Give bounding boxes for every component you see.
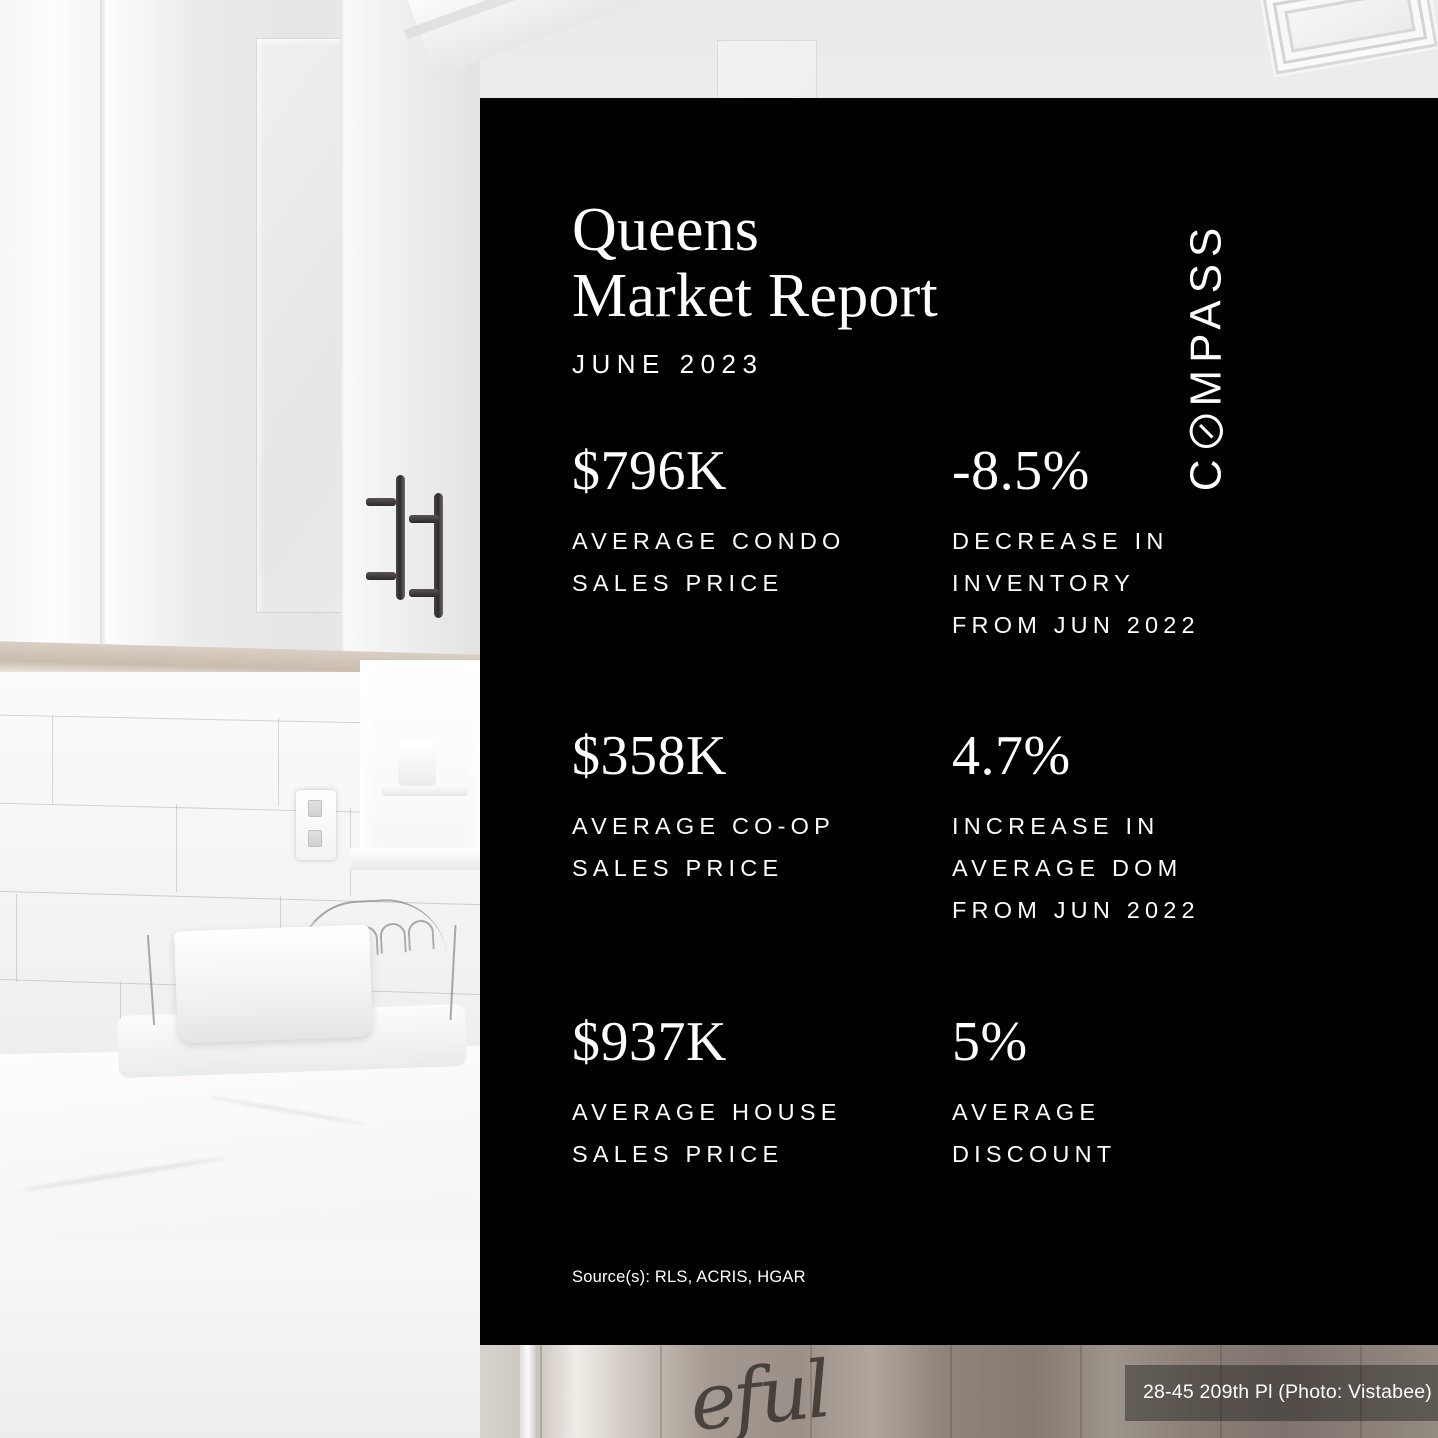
lower-cabinets [0, 1240, 480, 1438]
cabinet-pull-foot [409, 515, 439, 523]
stat-label: AVERAGE HOUSE SALES PRICE [572, 1092, 952, 1176]
cabinet-pull-foot [409, 589, 439, 597]
cabinet-pull-foot [366, 498, 396, 506]
stats-row: $358K AVERAGE CO-OP SALES PRICE 4.7% INC… [572, 728, 1332, 931]
stat-label-line: INCREASE IN [952, 806, 1332, 848]
stat-label-line: FROM JUN 2022 [952, 890, 1332, 932]
stat-value: 4.7% [952, 728, 1332, 784]
cabinet-pull-foot [366, 572, 396, 580]
plate [382, 786, 468, 796]
stat-label: AVERAGE DISCOUNT [952, 1092, 1332, 1176]
report-panel: Queens Market Report JUNE 2023 C MPASS [480, 98, 1438, 1345]
stat-increase-in-average-dom: 4.7% INCREASE IN AVERAGE DOM FROM JUN 20… [952, 728, 1332, 931]
stat-value: 5% [952, 1014, 1332, 1070]
stat-average-discount: 5% AVERAGE DISCOUNT [952, 1014, 1332, 1176]
stat-label: DECREASE IN INVENTORY FROM JUN 2022 [952, 521, 1332, 646]
stat-label-line: AVERAGE DOM [952, 848, 1332, 890]
window-sill [350, 848, 490, 870]
cabinet-pull-left [396, 475, 405, 600]
stat-label-line: SALES PRICE [572, 1134, 952, 1176]
stat-label-line: AVERAGE [952, 1092, 1332, 1134]
market-report-graphic: eful Queens Market Report JUNE 2023 C MP… [0, 0, 1438, 1438]
stat-label-line: FROM JUN 2022 [952, 605, 1332, 647]
stats-row: $796K AVERAGE CONDO SALES PRICE -8.5% DE… [572, 443, 1332, 646]
stat-average-condo-sales-price: $796K AVERAGE CONDO SALES PRICE [572, 443, 952, 646]
dish-basin [174, 925, 373, 1044]
stat-label-line: SALES PRICE [572, 563, 952, 605]
stat-label-line: AVERAGE CO-OP [572, 806, 952, 848]
stat-label: AVERAGE CO-OP SALES PRICE [572, 806, 952, 890]
stat-label-line: AVERAGE HOUSE [572, 1092, 952, 1134]
photo-caption: 28-45 209th Pl (Photo: Vistabee) [1143, 1381, 1432, 1404]
stat-label-line: DISCOUNT [952, 1134, 1332, 1176]
stat-value: -8.5% [952, 443, 1332, 499]
source-note: Source(s): RLS, ACRIS, HGAR [572, 1268, 806, 1287]
stat-label-line: INVENTORY [952, 563, 1332, 605]
stat-value: $358K [572, 728, 952, 784]
stat-value: $937K [572, 1014, 952, 1070]
stat-label-line: AVERAGE CONDO [572, 521, 952, 563]
stats-grid: $796K AVERAGE CONDO SALES PRICE -8.5% DE… [572, 443, 1332, 1258]
door-frame [520, 1345, 536, 1438]
stat-label: AVERAGE CONDO SALES PRICE [572, 521, 952, 605]
upper-cabinet-right [345, 0, 480, 660]
compass-letters-mpass: MPASS [1182, 221, 1232, 407]
cabinet-pull-right [434, 493, 443, 618]
wall-outlet [296, 790, 336, 860]
stat-average-house-sales-price: $937K AVERAGE HOUSE SALES PRICE [572, 1014, 952, 1176]
doormat-text: eful [686, 1345, 833, 1438]
ceiling-crown-molding [404, 0, 661, 76]
stat-value: $796K [572, 443, 952, 499]
stat-average-coop-sales-price: $358K AVERAGE CO-OP SALES PRICE [572, 728, 952, 931]
cup [398, 742, 436, 786]
stat-label-line: DECREASE IN [952, 521, 1332, 563]
stat-label: INCREASE IN AVERAGE DOM FROM JUN 2022 [952, 806, 1332, 931]
ceiling-vent-icon [1259, 0, 1438, 78]
stat-label-line: SALES PRICE [572, 848, 952, 890]
stat-decrease-in-inventory: -8.5% DECREASE IN INVENTORY FROM JUN 202… [952, 443, 1332, 646]
stats-row: $937K AVERAGE HOUSE SALES PRICE 5% AVERA… [572, 1014, 1332, 1176]
